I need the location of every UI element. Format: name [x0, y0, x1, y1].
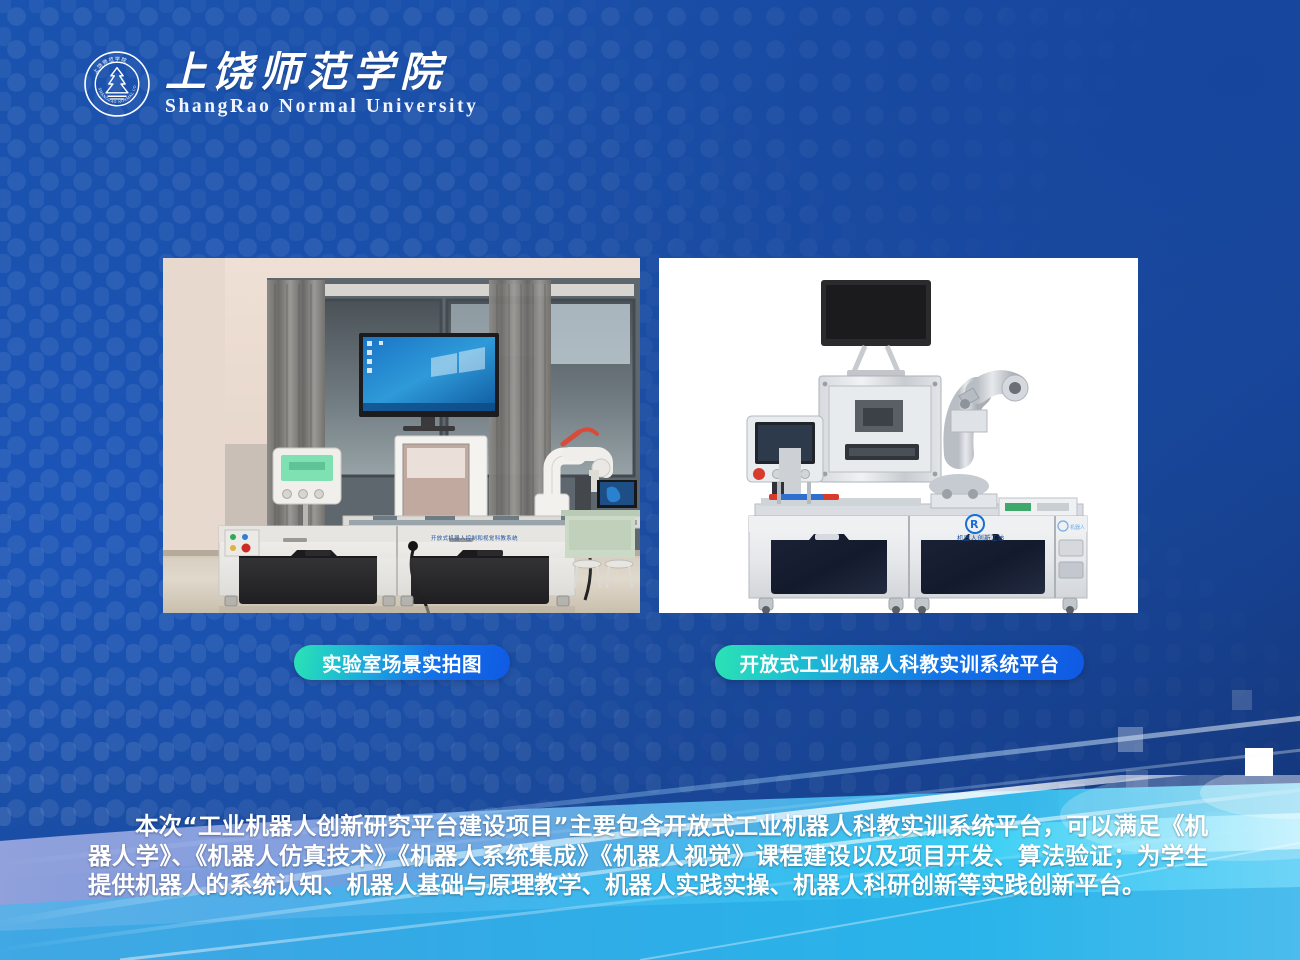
decor-square [1245, 748, 1273, 776]
svg-text:机器人: 机器人 [1070, 524, 1085, 531]
caption-lab-scene[interactable]: 实验室场景实拍图 [294, 645, 510, 680]
university-seal-icon: 上饶师范学院 SHANGRAO NORMAL COLLEGE [83, 50, 151, 118]
decor-square [1232, 690, 1252, 710]
caption-training-platform[interactable]: 开放式工业机器人科教实训系统平台 [715, 645, 1084, 680]
university-name-cn: 上饶师范学院 [165, 51, 479, 94]
svg-text:开放式机器人控制和视觉科教系统: 开放式机器人控制和视觉科教系统 [431, 534, 518, 542]
photo-lab-scene[interactable]: 开放式机器人控制和视觉科教系统 [163, 258, 640, 613]
university-name-en: ShangRao Normal University [165, 96, 479, 117]
university-logo: 上饶师范学院 SHANGRAO NORMAL COLLEGE 上饶师范学院 Sh… [83, 50, 479, 118]
svg-text:上饶师范学院: 上饶师范学院 [91, 55, 128, 75]
photo-training-platform[interactable]: R 机器人创新工坊 机器人 [659, 258, 1138, 613]
svg-text:R: R [970, 518, 979, 531]
slide-canvas: 上饶师范学院 SHANGRAO NORMAL COLLEGE 上饶师范学院 Sh… [0, 0, 1300, 960]
decor-square [1118, 727, 1143, 752]
body-paragraph: 本次“工业机器人创新研究平台建设项目”主要包含开放式工业机器人科教实训系统平台，… [88, 812, 1208, 901]
svg-text:机器人创新工坊: 机器人创新工坊 [957, 533, 1005, 542]
